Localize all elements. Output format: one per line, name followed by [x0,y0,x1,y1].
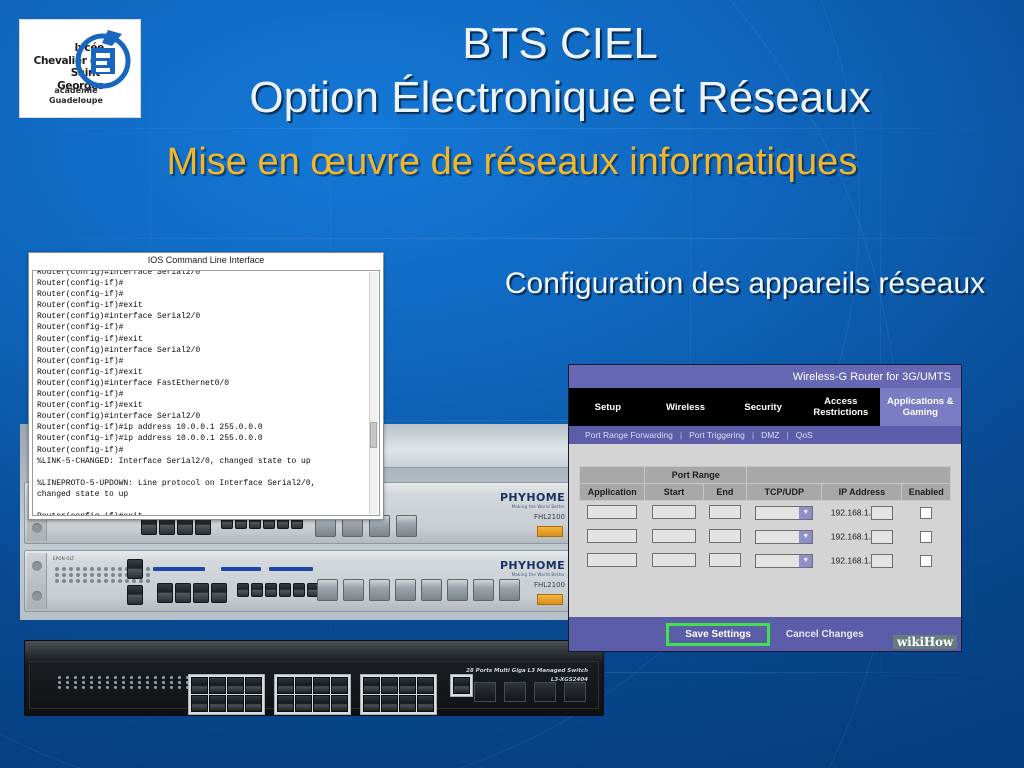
table-group-header-row: Port Range [580,467,951,484]
subnav-qos[interactable]: QoS [789,430,820,440]
start-port-input-3[interactable] [652,553,696,567]
chevron-down-icon: ▼ [799,531,812,543]
cli-output-text: Router(config)#interface Serial2/0 Route… [37,270,365,516]
col-end: End [703,484,747,501]
start-port-input-1[interactable] [652,505,696,519]
ios-cli-window[interactable]: IOS Command Line Interface Router(config… [28,252,384,520]
airlive-port-block-2 [274,674,351,715]
tab-applications-gaming[interactable]: Applications & Gaming [880,388,961,426]
cancel-changes-button[interactable]: Cancel Changes [786,629,864,640]
switch-brand-top: PHYHOME Making the World Better FHL2100 [500,491,565,521]
airlive-port-block-1 [188,674,265,715]
ip-suffix-input-2[interactable] [871,530,893,544]
cell-application [580,501,645,525]
protocol-select-1[interactable]: ▼ [755,506,813,520]
cell-protocol: ▼ [747,501,822,525]
cell-application [580,525,645,549]
col-start: Start [645,484,703,501]
protocol-select-2[interactable]: ▼ [755,530,813,544]
airlive-sfp-uplinks [474,682,586,702]
tab-security[interactable]: Security [724,388,802,426]
protocol-select-3[interactable]: ▼ [755,554,813,568]
col-tcp-udp: TCP/UDP [747,484,822,501]
cell-start [645,525,703,549]
switch-unit-bottom: EPON OLT [24,550,574,612]
chevron-down-icon: ▼ [799,555,812,567]
enabled-checkbox-2[interactable] [920,531,932,543]
slide-title-line1: BTS CIEL [160,18,960,70]
tab-wireless-label: Wireless [666,402,705,413]
cli-output-area[interactable]: Router(config)#interface Serial2/0 Route… [32,270,380,516]
subnav-port-triggering[interactable]: Port Triggering [682,430,752,440]
tab-access-restrictions-label: Access Restrictions [813,396,868,418]
tab-wireless[interactable]: Wireless [647,388,725,426]
cell-application [580,549,645,573]
cell-start [645,549,703,573]
cell-ip-address: 192.168.1. [822,525,902,549]
cell-end [703,501,747,525]
tab-setup[interactable]: Setup [569,388,647,426]
slide-subtitle: Mise en œuvre de réseaux informatiques [162,138,862,186]
cell-protocol: ▼ [747,549,822,573]
subnav-port-range-forwarding[interactable]: Port Range Forwarding [578,430,680,440]
logo-academy: académie Guadeloupe [20,86,132,106]
tab-security-label: Security [744,402,782,413]
cli-window-title: IOS Command Line Interface [29,253,383,268]
table-header-row: Application Start End TCP/UDP IP Address… [580,484,951,501]
ip-suffix-input-1[interactable] [871,506,893,520]
save-settings-button[interactable]: Save Settings [666,623,770,646]
cell-protocol: ▼ [747,525,822,549]
tab-setup-label: Setup [595,402,621,413]
presentation-slide: lycée Chevalier de Saint-Georges académi… [0,0,1024,768]
tab-applications-gaming-label: Applications & Gaming [887,396,954,418]
application-input-3[interactable] [587,553,637,567]
router-content-area: Port Range Application Start End TCP/UDP… [569,444,961,617]
cell-enabled [902,525,951,549]
ip-prefix-label-2: 192.168.1. [831,531,871,541]
photo-airlive-switch: airlive 28 Ports Multi Giga L3 M [24,640,604,716]
group-header-blank-right [747,467,951,484]
airlive-model-label: 28 Ports Multi Giga L3 Managed Switch L3… [466,668,588,683]
enabled-checkbox-1[interactable] [920,507,932,519]
wikihow-watermark: wikiHow [893,635,957,649]
table-row: ▼ 192.168.1. [580,525,951,549]
cli-scrollbar-thumb[interactable] [370,422,377,448]
cell-start [645,501,703,525]
tab-access-restrictions[interactable]: Access Restrictions [802,388,880,426]
start-port-input-2[interactable] [652,529,696,543]
cell-enabled [902,549,951,573]
col-application: Application [580,484,645,501]
switch-brand-bottom: PHYHOME Making the World Better FHL2100 [500,559,565,589]
switch-panel-label: EPON OLT [53,556,74,561]
router-footer: Save Settings Cancel Changes wikiHow [569,617,961,651]
ip-prefix-label-3: 192.168.1. [831,555,871,565]
table-row: ▼ 192.168.1. [580,501,951,525]
router-tab-bar[interactable]: Setup Wireless Security Access Restricti… [569,388,961,426]
subnav-dmz[interactable]: DMZ [754,430,786,440]
cell-end [703,549,747,573]
port-range-forwarding-table: Port Range Application Start End TCP/UDP… [579,466,951,573]
router-product-title: Wireless-G Router for 3G/UMTS [793,371,951,383]
application-input-1[interactable] [587,505,637,519]
end-port-input-1[interactable] [709,505,741,519]
col-enabled: Enabled [902,484,951,501]
end-port-input-2[interactable] [709,529,741,543]
cell-end [703,525,747,549]
cell-ip-address: 192.168.1. [822,501,902,525]
end-port-input-3[interactable] [709,553,741,567]
col-ip-address: IP Address [822,484,902,501]
router-admin-panel[interactable]: Wireless-G Router for 3G/UMTS Setup Wire… [568,364,962,652]
cell-enabled [902,501,951,525]
slide-caption: Configuration des appareils réseaux [468,264,1022,304]
chevron-down-icon: ▼ [799,507,812,519]
table-row: ▼ 192.168.1. [580,549,951,573]
airlive-port-block-3 [360,674,437,715]
group-header-blank-left [580,467,645,484]
ip-prefix-label-1: 192.168.1. [831,507,871,517]
enabled-checkbox-3[interactable] [920,555,932,567]
slide-title-line2: Option Électronique et Réseaux [120,72,1000,124]
group-header-port-range: Port Range [645,467,747,484]
cli-scrollbar[interactable] [369,272,378,514]
ip-suffix-input-3[interactable] [871,554,893,568]
router-titlebar: Wireless-G Router for 3G/UMTS [569,365,961,388]
cell-ip-address: 192.168.1. [822,549,902,573]
router-subnav[interactable]: Port Range Forwarding | Port Triggering … [569,426,961,444]
application-input-2[interactable] [587,529,637,543]
